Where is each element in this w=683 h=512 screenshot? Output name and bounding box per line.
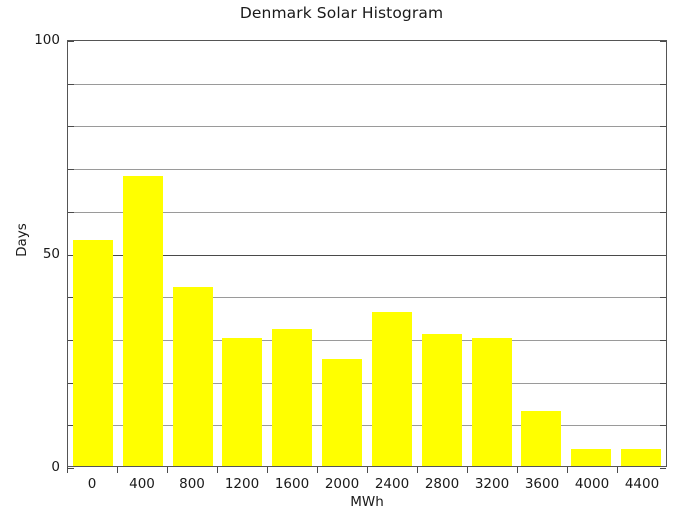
bar: [73, 240, 113, 466]
x-axis-tick: [117, 467, 118, 473]
x-axis-tick-label: 0: [67, 476, 117, 494]
x-axis-tick-label: 1600: [267, 476, 317, 494]
x-tick-slot: [617, 467, 667, 474]
bar-slot: [616, 41, 666, 466]
bar: [621, 449, 661, 466]
bars-layer: [68, 41, 666, 466]
bar-slot: [267, 41, 317, 466]
x-tick-slot: [417, 467, 467, 474]
x-axis-tick-label: 2400: [367, 476, 417, 494]
bar-slot: [317, 41, 367, 466]
bar-slot: [516, 41, 566, 466]
bar: [322, 359, 362, 466]
x-axis-tick-label: 2000: [317, 476, 367, 494]
x-axis-tick-label: 4400: [617, 476, 667, 494]
x-axis-tick: [67, 467, 68, 473]
x-tick-slot: [217, 467, 267, 474]
y-axis-title: Days: [14, 210, 30, 270]
x-axis-tick-labels: 0400800120016002000240028003200360040004…: [67, 476, 667, 494]
x-axis-tick: [367, 467, 368, 473]
bar-slot: [168, 41, 218, 466]
bar-slot: [68, 41, 118, 466]
x-tick-slot: [167, 467, 217, 474]
x-axis-tick-label: 2800: [417, 476, 467, 494]
x-axis-tick: [267, 467, 268, 473]
y-axis-tick-label: 0: [0, 459, 60, 475]
bar-slot: [467, 41, 517, 466]
x-axis-tick-label: 800: [167, 476, 217, 494]
x-axis-tick: [417, 467, 418, 473]
bar-slot: [566, 41, 616, 466]
x-tick-slot: [467, 467, 517, 474]
bar: [472, 338, 512, 466]
x-tick-slot: [367, 467, 417, 474]
bar: [521, 411, 561, 467]
x-tick-slot: [117, 467, 167, 474]
plot-area: [67, 40, 667, 467]
chart-title: Denmark Solar Histogram: [0, 4, 683, 22]
bar: [222, 338, 262, 466]
bar: [571, 449, 611, 466]
y-axis-tick-label: 100: [0, 32, 60, 48]
bar-slot: [217, 41, 267, 466]
bar-slot: [417, 41, 467, 466]
bar: [422, 334, 462, 466]
x-tick-slot: [517, 467, 567, 474]
bar: [123, 176, 163, 466]
x-axis-ticks: [67, 467, 667, 474]
x-axis-tick: [467, 467, 468, 473]
x-axis-tick-label: 3200: [467, 476, 517, 494]
x-axis-title: MWh: [67, 494, 667, 510]
y-axis-tick-label: 50: [0, 246, 60, 262]
x-axis-tick: [217, 467, 218, 473]
bar-slot: [367, 41, 417, 466]
x-axis-tick-label: 4000: [567, 476, 617, 494]
x-axis-tick: [317, 467, 318, 473]
x-axis-tick: [167, 467, 168, 473]
chart-container: Denmark Solar Histogram 050100 Days 0400…: [0, 0, 683, 512]
bar: [272, 329, 312, 466]
x-tick-slot: [317, 467, 367, 474]
bar-slot: [118, 41, 168, 466]
x-axis-tick-label: 1200: [217, 476, 267, 494]
x-tick-slot: [67, 467, 117, 474]
bar: [372, 312, 412, 466]
x-axis-tick-label: 400: [117, 476, 167, 494]
x-axis-tick-label: 3600: [517, 476, 567, 494]
x-tick-slot: [267, 467, 317, 474]
x-axis-tick: [517, 467, 518, 473]
x-axis-tick: [567, 467, 568, 473]
x-tick-slot: [567, 467, 617, 474]
x-axis-tick: [617, 467, 618, 473]
bar: [173, 287, 213, 466]
